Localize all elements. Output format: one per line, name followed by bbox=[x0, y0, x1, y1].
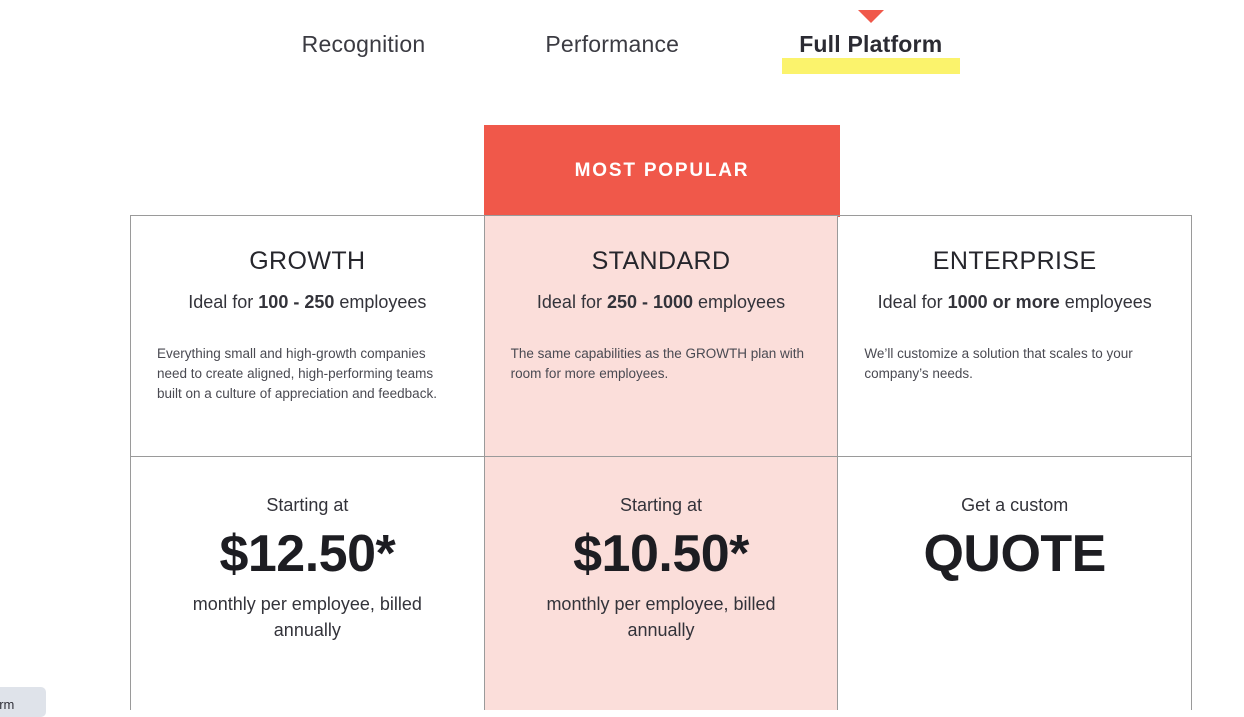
price-prefix-standard: Starting at bbox=[511, 493, 812, 517]
plan-ideal-suffix: employees bbox=[693, 292, 785, 312]
pricing-column-growth: GROWTH Ideal for 100 - 250 employees Eve… bbox=[131, 216, 485, 710]
plan-ideal-range: 1000 or more bbox=[948, 292, 1060, 312]
plan-ideal-prefix: Ideal for bbox=[537, 292, 607, 312]
plan-info-enterprise: ENTERPRISE Ideal for 1000 or more employ… bbox=[838, 216, 1191, 456]
price-terms-standard: monthly per employee, billed annually bbox=[511, 591, 812, 643]
tab-recognition[interactable]: Recognition bbox=[302, 0, 426, 58]
plan-name-enterprise: ENTERPRISE bbox=[864, 246, 1165, 276]
pricing-table: GROWTH Ideal for 100 - 250 employees Eve… bbox=[130, 215, 1192, 710]
plan-ideal-growth: Ideal for 100 - 250 employees bbox=[157, 290, 458, 314]
tab-performance[interactable]: Performance bbox=[545, 0, 679, 58]
plan-name-growth: GROWTH bbox=[157, 246, 458, 276]
pricing-column-standard: STANDARD Ideal for 250 - 1000 employees … bbox=[485, 216, 839, 710]
plan-info-growth: GROWTH Ideal for 100 - 250 employees Eve… bbox=[131, 216, 484, 456]
plan-info-standard: STANDARD Ideal for 250 - 1000 employees … bbox=[485, 216, 838, 456]
plan-ideal-prefix: Ideal for bbox=[188, 292, 258, 312]
plan-description-enterprise: We’ll customize a solution that scales t… bbox=[864, 344, 1165, 384]
active-tab-highlight bbox=[782, 58, 960, 74]
tab-recognition-label: Recognition bbox=[302, 30, 426, 58]
price-terms-growth: monthly per employee, billed annually bbox=[157, 591, 458, 643]
plan-ideal-prefix: Ideal for bbox=[878, 292, 948, 312]
price-prefix-enterprise: Get a custom bbox=[864, 493, 1165, 517]
triangle-down-icon bbox=[858, 10, 884, 23]
pricing-column-enterprise: ENTERPRISE Ideal for 1000 or more employ… bbox=[838, 216, 1192, 710]
plan-ideal-standard: Ideal for 250 - 1000 employees bbox=[511, 290, 812, 314]
price-prefix-growth: Starting at bbox=[157, 493, 458, 517]
price-amount-standard: $10.50* bbox=[511, 523, 812, 585]
most-popular-banner-label: MOST POPULAR bbox=[575, 160, 750, 182]
corner-widget[interactable]: orm bbox=[0, 687, 46, 717]
plan-description-growth: Everything small and high-growth compani… bbox=[157, 344, 458, 404]
plan-price-enterprise: Get a custom QUOTE bbox=[838, 456, 1191, 710]
tab-full-platform-label: Full Platform bbox=[799, 30, 942, 58]
most-popular-banner: MOST POPULAR bbox=[484, 125, 840, 217]
plan-price-growth: Starting at $12.50* monthly per employee… bbox=[131, 456, 484, 710]
plan-description-standard: The same capabilities as the GROWTH plan… bbox=[511, 344, 812, 384]
tab-performance-label: Performance bbox=[545, 30, 679, 58]
plan-price-standard: Starting at $10.50* monthly per employee… bbox=[485, 456, 838, 710]
plan-ideal-range: 100 - 250 bbox=[258, 292, 334, 312]
plan-ideal-suffix: employees bbox=[334, 292, 426, 312]
price-amount-growth: $12.50* bbox=[157, 523, 458, 585]
price-amount-enterprise: QUOTE bbox=[864, 523, 1165, 585]
plan-ideal-suffix: employees bbox=[1060, 292, 1152, 312]
plan-category-tabs: Recognition Performance Full Platform bbox=[0, 0, 1244, 100]
corner-widget-label: orm bbox=[0, 697, 14, 712]
tab-full-platform[interactable]: Full Platform bbox=[799, 0, 942, 58]
plan-ideal-enterprise: Ideal for 1000 or more employees bbox=[864, 290, 1165, 314]
plan-name-standard: STANDARD bbox=[511, 246, 812, 276]
plan-ideal-range: 250 - 1000 bbox=[607, 292, 693, 312]
